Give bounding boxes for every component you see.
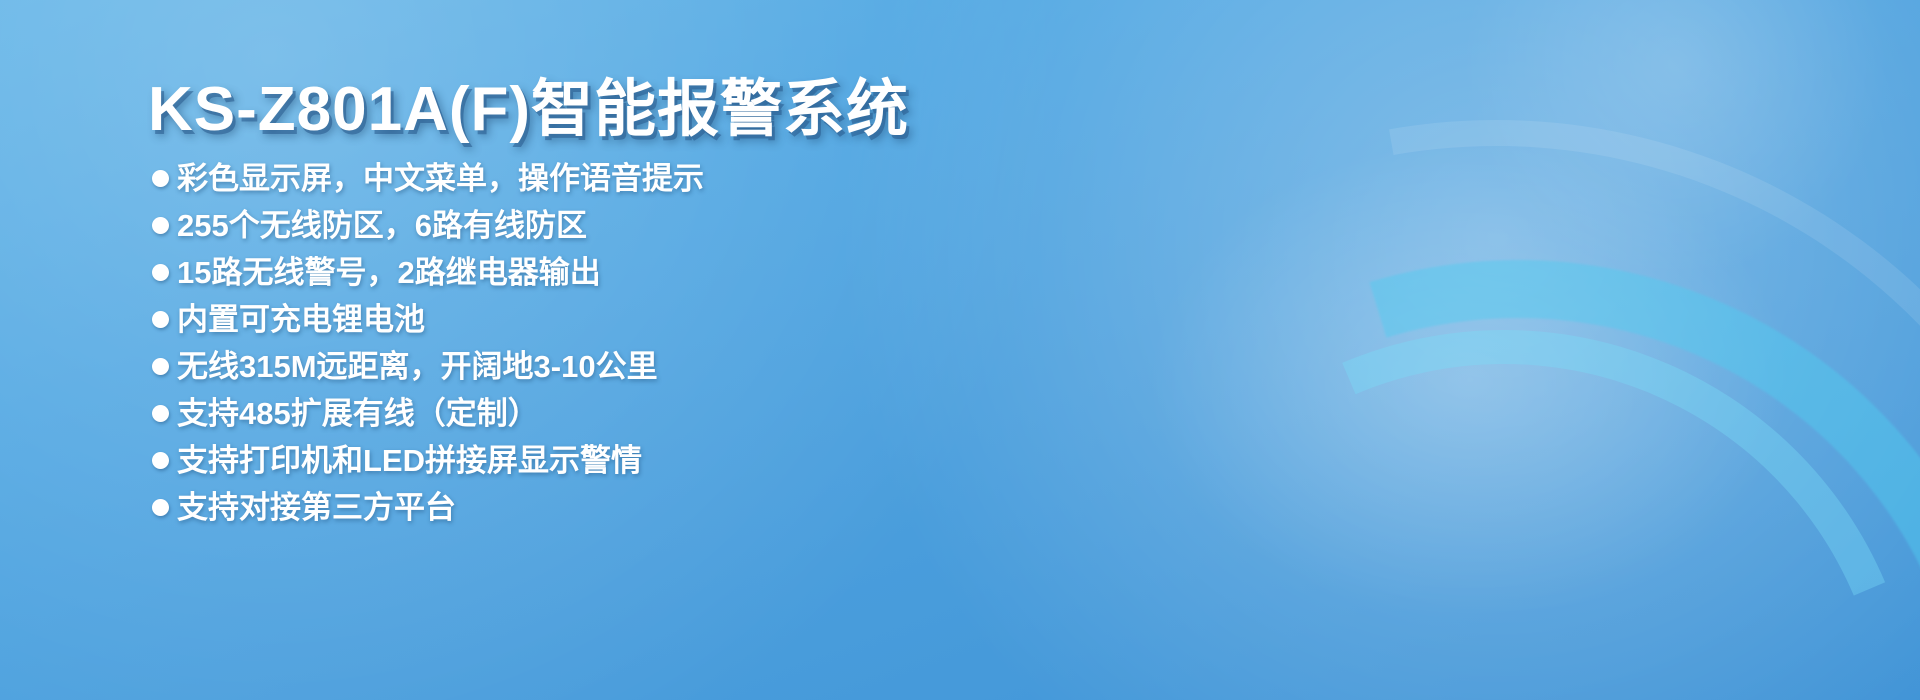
feature-text: 无线315M远距离，开阔地3-10公里 [177, 343, 658, 390]
product-image: 22 27 01-01-01 直流 交流 故障 [955, 0, 1920, 700]
bullet-dot-icon [152, 170, 169, 187]
bullet-dot-icon [152, 264, 169, 281]
list-item: 支持485扩展有线（定制） [152, 390, 952, 437]
list-item: 15路无线警号，2路继电器输出 [152, 249, 952, 296]
feature-list: 彩色显示屏，中文菜单，操作语音提示 255个无线防区，6路有线防区 15路无线警… [152, 155, 952, 531]
feature-text: 支持打印机和LED拼接屏显示警情 [177, 437, 642, 484]
bullet-dot-icon [152, 405, 169, 422]
feature-text: 彩色显示屏，中文菜单，操作语音提示 [177, 155, 704, 202]
product-banner: KS-Z801A(F)智能报警系统 彩色显示屏，中文菜单，操作语音提示 255个… [0, 0, 1920, 700]
feature-text: 255个无线防区，6路有线防区 [177, 202, 587, 249]
text-block: KS-Z801A(F)智能报警系统 彩色显示屏，中文菜单，操作语音提示 255个… [0, 0, 960, 700]
feature-text: 支持485扩展有线（定制） [177, 390, 539, 437]
bullet-dot-icon [152, 499, 169, 516]
list-item: 支持对接第三方平台 [152, 484, 952, 531]
bullet-dot-icon [152, 217, 169, 234]
feature-text: 15路无线警号，2路继电器输出 [177, 249, 601, 296]
list-item: 支持打印机和LED拼接屏显示警情 [152, 437, 952, 484]
list-item: 彩色显示屏，中文菜单，操作语音提示 [152, 155, 952, 202]
list-item: 255个无线防区，6路有线防区 [152, 202, 952, 249]
list-item: 无线315M远距离，开阔地3-10公里 [152, 343, 952, 390]
page-title: KS-Z801A(F)智能报警系统 [148, 58, 909, 148]
list-item: 内置可充电锂电池 [152, 296, 952, 343]
bullet-dot-icon [152, 358, 169, 375]
feature-text: 支持对接第三方平台 [177, 484, 456, 531]
bullet-dot-icon [152, 311, 169, 328]
bullet-dot-icon [152, 452, 169, 469]
feature-text: 内置可充电锂电池 [177, 296, 425, 343]
